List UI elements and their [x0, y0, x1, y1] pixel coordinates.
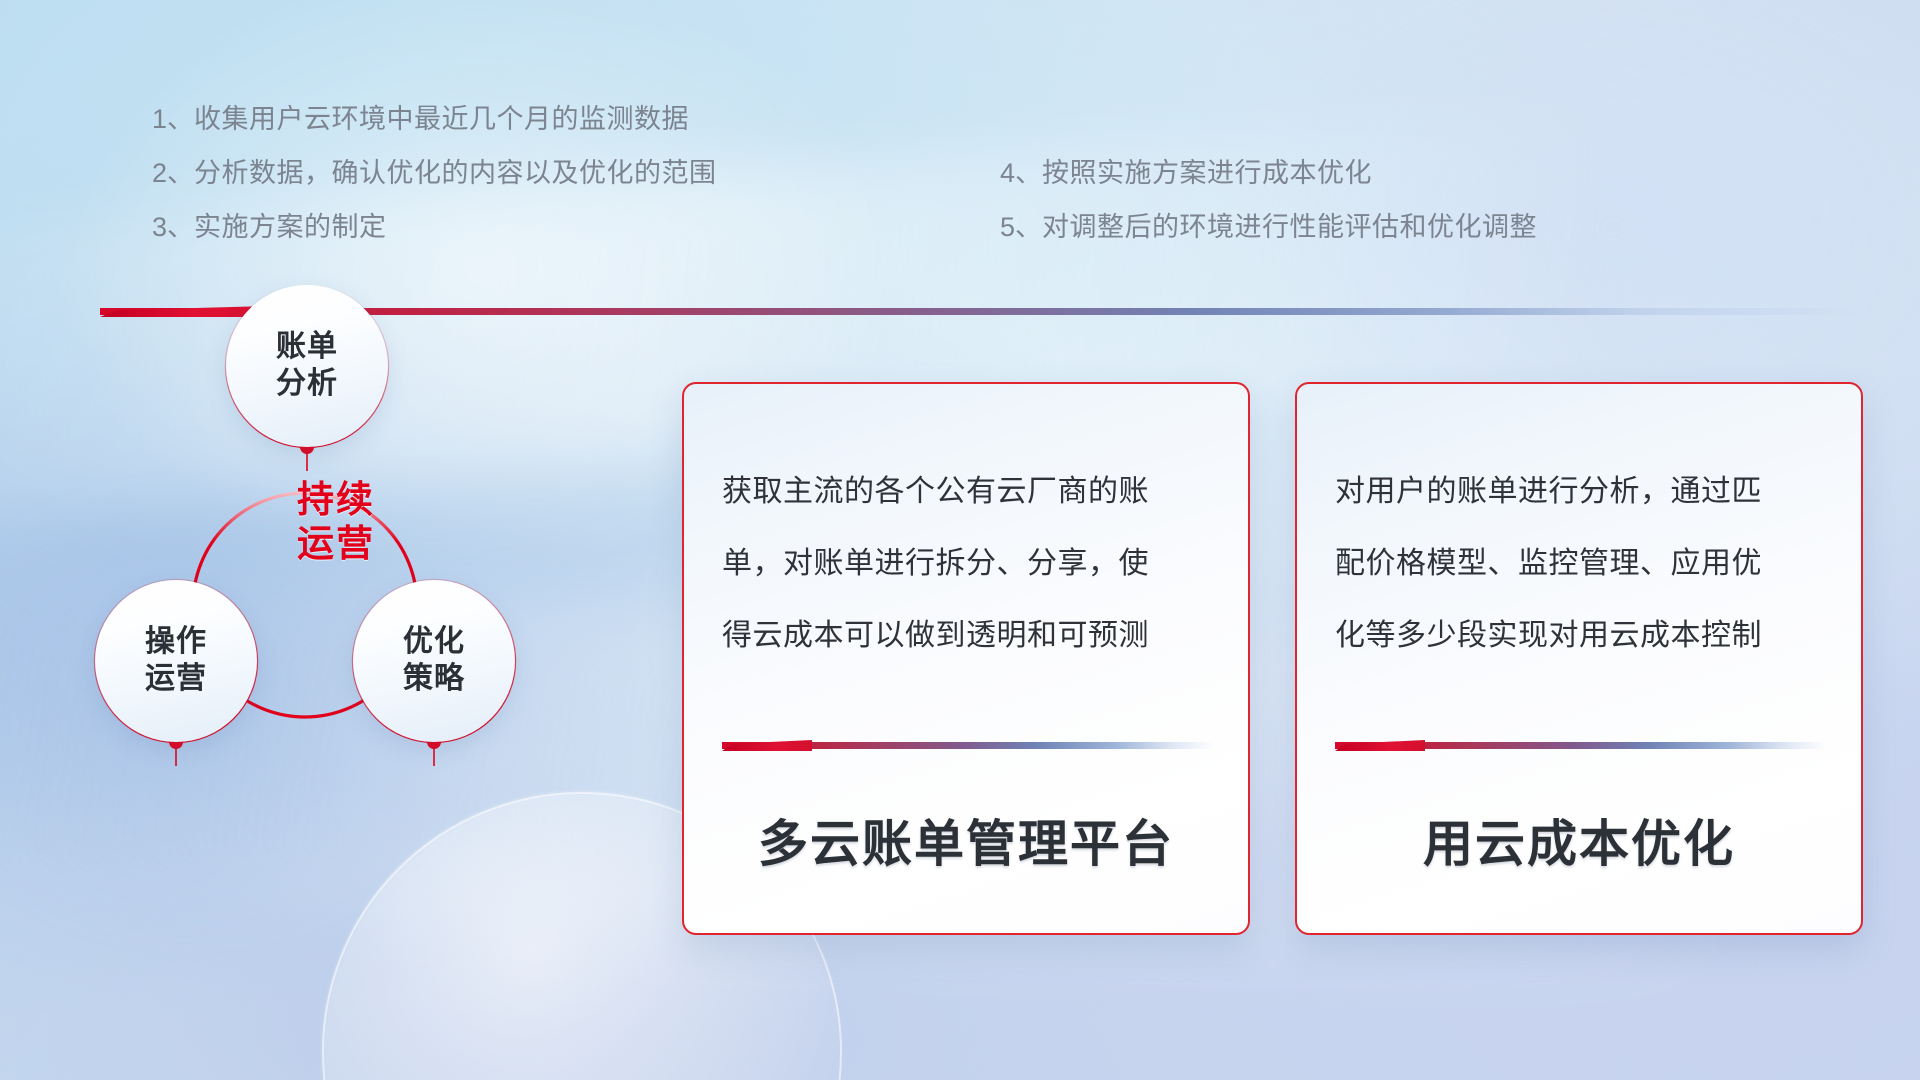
card-title: 用云成本优化 — [1297, 804, 1861, 876]
step-number: 3、 — [152, 212, 194, 242]
venn-lobe-label: 优化 — [403, 624, 465, 661]
step-item: 4、按照实施方案进行成本优化 — [1000, 146, 1760, 200]
step-text: 实施方案的制定 — [194, 212, 387, 242]
card-body-line: 得云成本可以做到透明和可预测 — [722, 600, 1218, 672]
step-item: 3、实施方案的制定 — [152, 200, 852, 254]
step-number: 1、 — [152, 104, 194, 134]
step-text: 对调整后的环境进行性能评估和优化调整 — [1042, 212, 1537, 242]
venn-lobe-label: 策略 — [403, 661, 465, 698]
venn-lobe-operations[interactable]: 操作 运营 — [95, 580, 257, 742]
step-text: 按照实施方案进行成本优化 — [1042, 158, 1372, 188]
step-text: 收集用户云环境中最近几个月的监测数据 — [194, 104, 689, 134]
step-number: 4、 — [1000, 158, 1042, 188]
card-body-line: 获取主流的各个公有云厂商的账 — [722, 456, 1218, 528]
venn-center-label: 持续 运营 — [251, 467, 421, 577]
venn-lobe-label: 操作 — [145, 624, 207, 661]
venn-lobe-bill-analysis[interactable]: 账单 分析 — [226, 285, 388, 447]
card-body-line: 对用户的账单进行分析，通过匹 — [1335, 456, 1831, 528]
card-divider — [1335, 740, 1827, 751]
venn-center-line: 运营 — [297, 522, 375, 566]
card-multi-cloud-bill-platform[interactable]: 获取主流的各个公有云厂商的账 单，对账单进行拆分、分享，使 得云成本可以做到透明… — [682, 382, 1250, 935]
step-item: 1、收集用户云环境中最近几个月的监测数据 — [152, 92, 852, 146]
card-cloud-cost-optimization[interactable]: 对用户的账单进行分析，通过匹 配价格模型、监控管理、应用优 化等多少段实现对用云… — [1295, 382, 1863, 935]
card-body-line: 单，对账单进行拆分、分享，使 — [722, 528, 1218, 600]
card-body-line: 配价格模型、监控管理、应用优 — [1335, 528, 1831, 600]
step-item: 2、分析数据，确认优化的内容以及优化的范围 — [152, 146, 852, 200]
step-item: 5、对调整后的环境进行性能评估和优化调整 — [1000, 200, 1760, 254]
venn-lobe-label: 分析 — [276, 366, 338, 403]
venn-center-line: 持续 — [297, 478, 375, 522]
card-body-line: 化等多少段实现对用云成本控制 — [1335, 600, 1831, 672]
steps-list-right: 4、按照实施方案进行成本优化 5、对调整后的环境进行性能评估和优化调整 — [1000, 146, 1760, 254]
steps-list-left: 1、收集用户云环境中最近几个月的监测数据 2、分析数据，确认优化的内容以及优化的… — [152, 92, 852, 254]
venn-lobe-optimization-strategy[interactable]: 优化 策略 — [353, 580, 515, 742]
venn-lobe-label: 账单 — [276, 329, 338, 366]
step-text: 分析数据，确认优化的内容以及优化的范围 — [194, 158, 717, 188]
venn-diagram: 账单 分析 操作 运营 优化 策略 持续 运营 — [95, 285, 565, 795]
card-title: 多云账单管理平台 — [684, 804, 1248, 876]
venn-lobe-label: 运营 — [145, 661, 207, 698]
card-body-text: 对用户的账单进行分析，通过匹 配价格模型、监控管理、应用优 化等多少段实现对用云… — [1335, 456, 1831, 672]
card-body-text: 获取主流的各个公有云厂商的账 单，对账单进行拆分、分享，使 得云成本可以做到透明… — [722, 456, 1218, 672]
card-divider — [722, 740, 1214, 751]
step-number: 5、 — [1000, 212, 1042, 242]
step-number: 2、 — [152, 158, 194, 188]
